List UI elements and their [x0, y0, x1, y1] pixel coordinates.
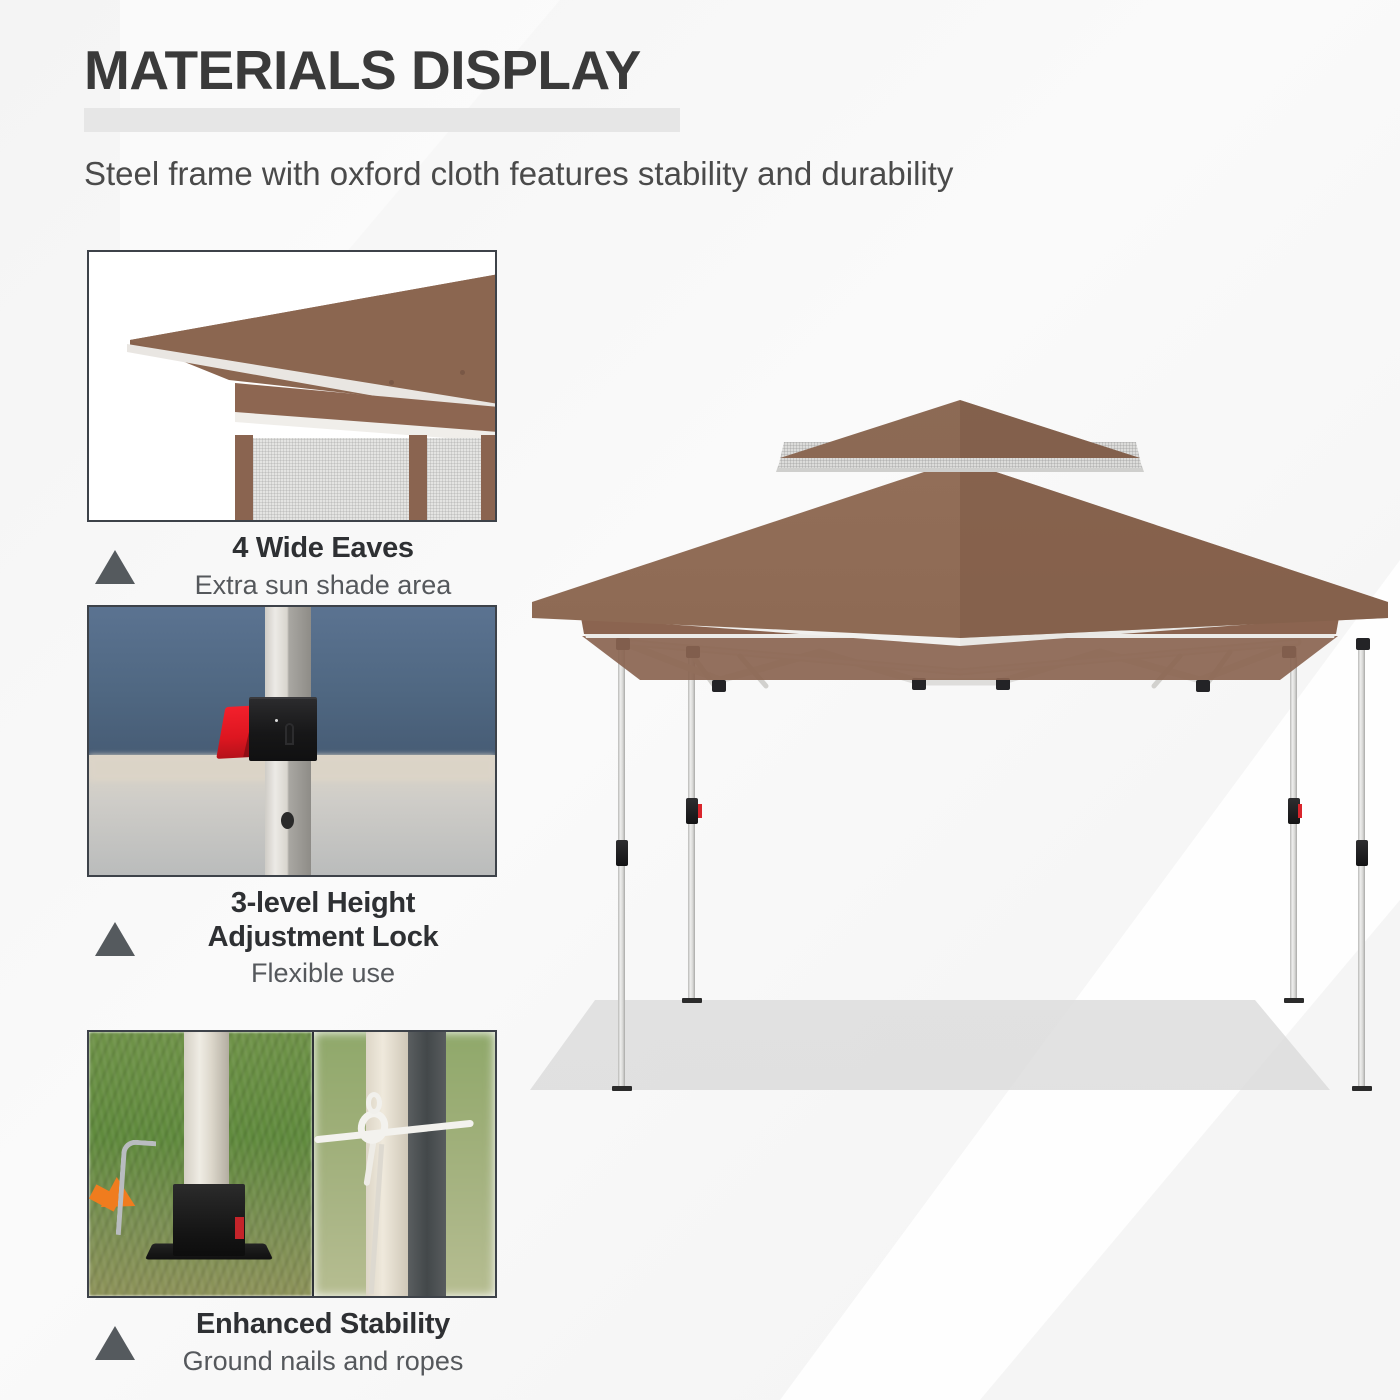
feature-image-enhanced-stability — [87, 1030, 497, 1298]
gazebo-joint-truss-left — [712, 680, 726, 692]
feature-heading: Enhanced Stability — [149, 1308, 497, 1342]
feature-heading-line1: 3-level Height — [149, 887, 497, 921]
gazebo-joint-truss-right — [1196, 680, 1210, 692]
feature-card-enhanced-stability: Enhanced Stability Ground nails and rope… — [87, 1030, 497, 1379]
infographic-page: MATERIALS DISPLAY Steel frame with oxfor… — [0, 0, 1400, 1400]
feature-card-wide-eaves: 4 Wide Eaves Extra sun shade area — [87, 250, 497, 603]
caption-height-lock: 3-level Height Adjustment Lock Flexible … — [87, 877, 497, 991]
feature-subtext: Flexible use — [149, 956, 497, 991]
feature-heading: 4 Wide Eaves — [149, 532, 497, 566]
triangle-marker-icon — [95, 550, 135, 584]
caption-enhanced-stability: Enhanced Stability Ground nails and rope… — [87, 1298, 497, 1379]
title-highlight-bar — [84, 108, 680, 132]
feature-image-wide-eaves — [87, 250, 497, 522]
stability-photo-rope — [312, 1032, 495, 1296]
feature-subtext: Ground nails and ropes — [149, 1344, 497, 1379]
triangle-marker-icon — [95, 922, 135, 956]
triangle-marker-icon — [95, 1326, 135, 1360]
gazebo-joint-front-right — [1356, 638, 1370, 650]
header: MATERIALS DISPLAY Steel frame with oxfor… — [84, 42, 1334, 100]
product-render-gazebo — [520, 380, 1400, 1140]
feature-card-height-lock: 3-level Height Adjustment Lock Flexible … — [87, 605, 497, 991]
stability-photo-ground-nail — [89, 1032, 312, 1296]
feature-subtext: Extra sun shade area — [149, 568, 497, 603]
feature-heading-line2: Adjustment Lock — [149, 921, 497, 955]
feature-image-height-lock — [87, 605, 497, 877]
page-title: MATERIALS DISPLAY — [84, 42, 1334, 100]
page-subtitle: Steel frame with oxford cloth features s… — [84, 155, 953, 193]
caption-wide-eaves: 4 Wide Eaves Extra sun shade area — [87, 522, 497, 603]
